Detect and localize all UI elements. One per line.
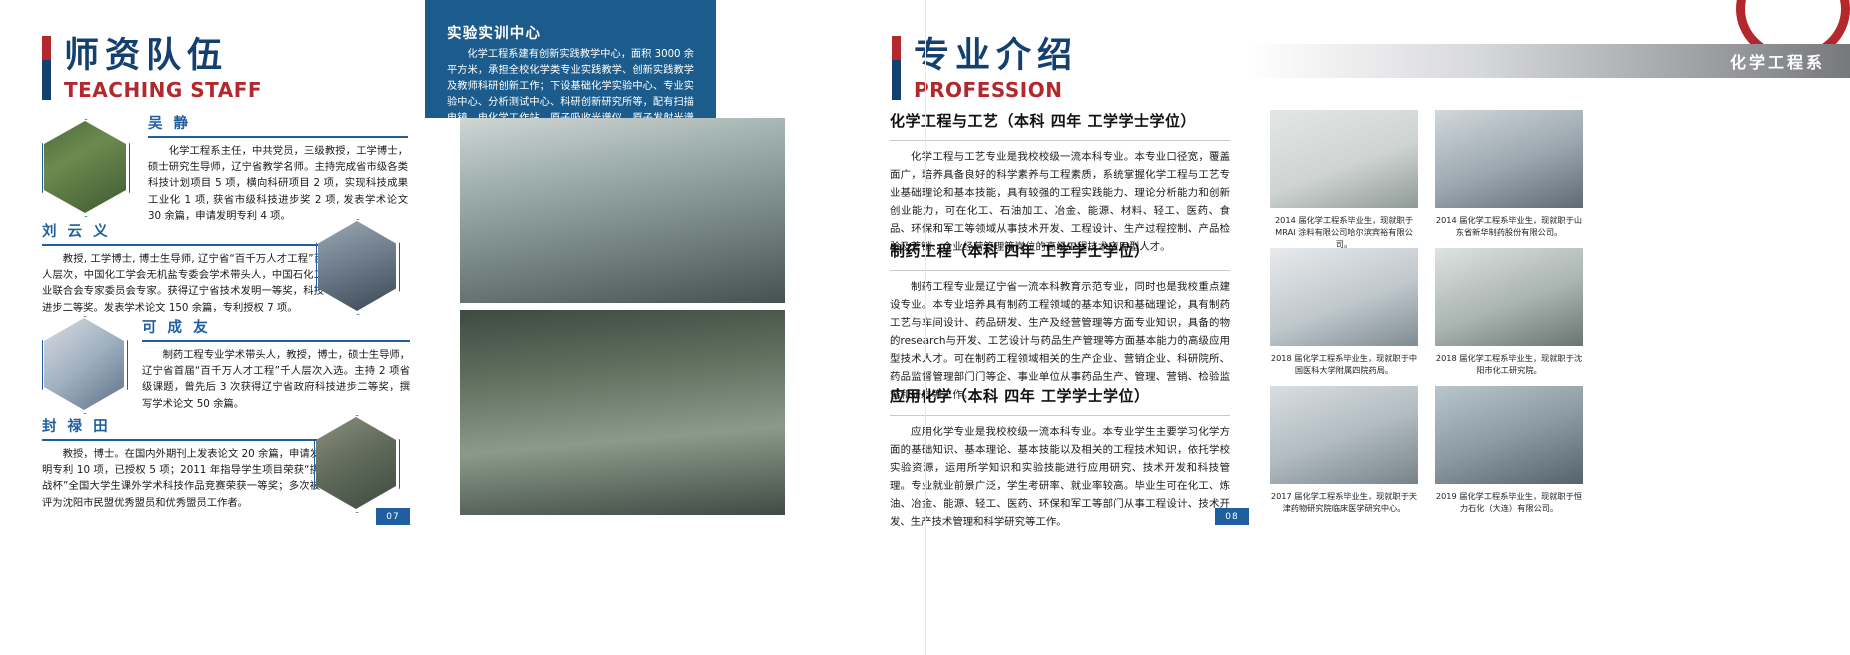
section-title-cn: 专业介绍 [914,36,1078,76]
dept-banner-label: 化学工程系 [1730,49,1825,73]
major-body: 应用化学专业是我校校级一流本科专业。本专业学生主要学习化学方面的基础知识、基本理… [890,423,1230,531]
alumni-photo [1270,248,1418,346]
teacher-bio: 制药工程专业学术带头人，教授，博士，硕士生导师，辽宁省首届“百千万人才工程”千人… [142,347,410,413]
major-heading: 应用化学（本科 四年 工学学士学位） [890,385,1230,406]
teacher-divider [142,340,410,342]
accent-bar-red [892,36,901,60]
accent-bar-blue [892,60,901,100]
page-left: 师资队伍 TEACHING STAFF 吴 静 化学工程系主任，中共党员，三级教… [0,0,925,655]
major-heading: 制药工程（本科 四年 工学学士学位） [890,240,1230,261]
brochure-spread: 师资队伍 TEACHING STAFF 吴 静 化学工程系主任，中共党员，三级教… [0,0,1850,655]
dept-banner: 化学工程系 [1245,44,1850,78]
alumni-photo [1435,110,1583,208]
section-title-en: PROFESSION [914,78,1078,102]
teacher-entry-wu-jing: 吴 静 化学工程系主任，中共党员，三级教授，工学博士，硕士研究生导师，辽宁省教学… [148,112,408,225]
major-divider [890,415,1230,416]
page-gutter-divider [925,0,926,655]
alumni-caption: 2019 届化学工程系毕业生，现就职于恒力石化（大连）有限公司。 [1435,490,1583,514]
teacher-name: 封 禄 田 [42,415,320,436]
major-chemical-engineering: 化学工程与工艺（本科 四年 工学学士学位） 化学工程与工艺专业是我校校级一流本科… [890,110,1230,256]
alumni-card: 2019 届化学工程系毕业生，现就职于恒力石化（大连）有限公司。 [1435,386,1583,514]
section-title-teaching-staff: 师资队伍 TEACHING STAFF [42,36,262,100]
accent-bar-blue [42,60,51,100]
teacher-entry-ke-chengyou: 可 成 友 制药工程专业学术带头人，教授，博士，硕士生导师，辽宁省首届“百千万人… [142,316,410,412]
alumni-card: 2014 届化学工程系毕业生，现就职于 MRAI 涂料有限公司哈尔滨宾裕有限公司… [1270,110,1418,250]
teacher-entry-liu-yunyi: 刘 云 义 教授, 工学博士, 博士生导师, 辽宁省“百千万人才工程”百人层次，… [42,220,324,316]
alumni-caption: 2014 届化学工程系毕业生，现就职于山东省新华制药股份有限公司。 [1435,214,1583,238]
page-number-left: 07 [376,508,410,525]
teacher-name: 可 成 友 [142,316,410,337]
teacher-divider [42,244,324,246]
teacher-name: 吴 静 [148,112,408,133]
teacher-divider [148,136,408,138]
major-pharmaceutical-engineering: 制药工程（本科 四年 工学学士学位） 制药工程专业是辽宁省一流本科教育示范专业，… [890,240,1230,404]
classroom-photo [460,310,785,515]
alumni-card: 2017 届化学工程系毕业生，现就职于天津药物研究院临床医学研究中心。 [1270,386,1418,514]
alumni-photo [1270,110,1418,208]
teacher-entry-feng-lutian: 封 禄 田 教授，博士。在国内外期刊上发表论文 20 余篇，申请发明专利 10 … [42,415,320,511]
alumni-caption: 2018 届化学工程系毕业生，现就职于中国医科大学附属四院药局。 [1270,352,1418,376]
section-title-profession: 专业介绍 PROFESSION [892,36,1078,100]
major-divider [890,270,1230,271]
teacher-divider [42,439,320,441]
major-heading: 化学工程与工艺（本科 四年 工学学士学位） [890,110,1230,131]
section-title-cn: 师资队伍 [64,36,262,76]
alumni-photo [1435,386,1583,484]
lab-center-title: 实验实训中心 [447,22,694,43]
accent-bar-red [42,36,51,60]
teacher-bio: 教授，博士。在国内外期刊上发表论文 20 余篇，申请发明专利 10 项，已授权 … [42,446,320,512]
alumni-photo [1435,248,1583,346]
alumni-card: 2018 届化学工程系毕业生，现就职于沈阳市化工研究院。 [1435,248,1583,376]
section-accent-bar [892,36,901,100]
page-right: 化学工程系 专业介绍 PROFESSION 化学工程与工艺（本科 四年 工学学士… [925,0,1850,655]
alumni-photo [1270,386,1418,484]
teacher-bio: 教授, 工学博士, 博士生导师, 辽宁省“百千万人才工程”百人层次，中国化工学会… [42,251,324,317]
section-accent-bar [42,36,51,100]
page-number-right: 08 [1215,508,1249,525]
alumni-caption: 2014 届化学工程系毕业生，现就职于 MRAI 涂料有限公司哈尔滨宾裕有限公司… [1270,214,1418,250]
alumni-card: 2014 届化学工程系毕业生，现就职于山东省新华制药股份有限公司。 [1435,110,1583,238]
lab-center-panel: 实验实训中心 化学工程系建有创新实践教学中心，面积 3000 余平方米，承担全校… [425,0,716,118]
alumni-card: 2018 届化学工程系毕业生，现就职于中国医科大学附属四院药局。 [1270,248,1418,376]
alumni-caption: 2018 届化学工程系毕业生，现就职于沈阳市化工研究院。 [1435,352,1583,376]
teacher-name: 刘 云 义 [42,220,324,241]
major-divider [890,140,1230,141]
alumni-caption: 2017 届化学工程系毕业生，现就职于天津药物研究院临床医学研究中心。 [1270,490,1418,514]
lab-photo-students [460,118,785,303]
major-applied-chemistry: 应用化学（本科 四年 工学学士学位） 应用化学专业是我校校级一流本科专业。本专业… [890,385,1230,531]
teacher-bio: 化学工程系主任，中共党员，三级教授，工学博士，硕士研究生导师，辽宁省教学名师。主… [148,143,408,225]
section-title-en: TEACHING STAFF [64,78,262,102]
